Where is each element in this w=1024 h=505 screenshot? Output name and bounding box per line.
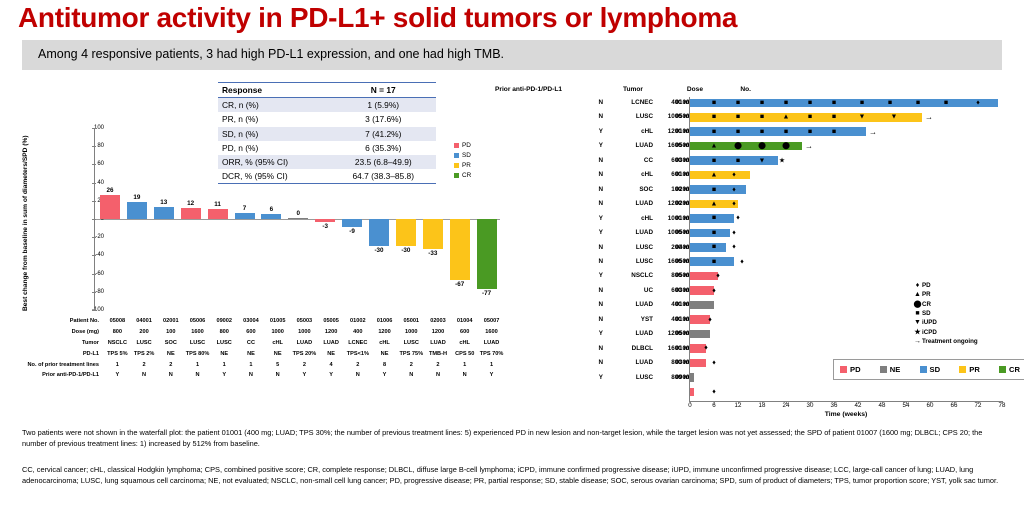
swimmer-cell-prior: N xyxy=(543,186,603,193)
swimmer-bar xyxy=(690,373,694,382)
waterfall-bar xyxy=(100,195,120,219)
swimmer-symbol: ■ xyxy=(712,258,716,265)
grid-cell: LUSC xyxy=(398,338,425,349)
waterfall-bar-value: 12 xyxy=(178,200,204,207)
swimmer-symbol: ★ xyxy=(779,157,785,164)
grid-cell: 100 xyxy=(157,327,184,338)
legend-item-cr: CR xyxy=(454,172,471,179)
color-swatch-ne xyxy=(880,366,887,373)
grid-cell: SOC xyxy=(157,338,184,349)
swimmer-tick-mark xyxy=(978,401,979,404)
table-header-row: Response N = 17 xyxy=(218,83,436,98)
swimmer-symbol: ■ xyxy=(916,99,920,106)
grid-cell: 200 xyxy=(131,327,158,338)
swimmer-tick-mark xyxy=(762,401,763,404)
grid-cell: Y xyxy=(211,370,238,381)
grid-cell: TPS 80% xyxy=(184,348,211,359)
grid-cell: TPS 20% xyxy=(291,348,318,359)
grid-cell: cHL xyxy=(264,338,291,349)
waterfall-bar-value: 0 xyxy=(285,210,311,217)
swimmer-bar xyxy=(690,286,714,295)
waterfall-bar-value: -30 xyxy=(366,247,392,254)
swimmer-tick-mark xyxy=(690,401,691,404)
swimmer-cell-tumor: cHL xyxy=(605,215,653,222)
waterfall-bar-value: 11 xyxy=(205,201,231,208)
grid-cell: 03004 xyxy=(238,316,265,327)
grid-row-label: Dose (mg) xyxy=(0,327,104,338)
grid-row-label: PD-L1 xyxy=(0,348,104,359)
waterfall-bar xyxy=(288,218,308,219)
swimmer-symbol: ■ xyxy=(808,114,812,121)
symbol-glyph: ▲ xyxy=(913,291,922,298)
grid-cell: 05003 xyxy=(291,316,318,327)
grid-cell: TMB-H xyxy=(425,348,452,359)
grid-cell: 2 xyxy=(344,359,371,370)
swimmer-cell-prior: N xyxy=(543,99,603,106)
grid-cell: 09002 xyxy=(211,316,238,327)
waterfall-bar xyxy=(342,219,362,227)
grid-cell: TPS 2% xyxy=(131,348,158,359)
legend-swatch-cr xyxy=(454,173,459,178)
color-legend-label: SD xyxy=(930,365,941,374)
swimmer-header-tumor: Tumor xyxy=(585,86,643,93)
swimmer-cell-prior: N xyxy=(543,200,603,207)
swimmer-cell-tumor: LUSC xyxy=(605,244,653,251)
grid-cell: 05001 xyxy=(398,316,425,327)
swimmer-bar xyxy=(690,315,710,324)
swimmer-symbol: ■ xyxy=(860,99,864,106)
swimmer-symbol: ■ xyxy=(736,114,740,121)
grid-cell: NE xyxy=(264,348,291,359)
grid-cell: N xyxy=(264,370,291,381)
grid-cell: Y xyxy=(104,370,131,381)
swimmer-symbol: ■ xyxy=(832,114,836,121)
swimmer-tick-mark xyxy=(834,401,835,404)
swimmer-symbol: ▼ xyxy=(891,114,898,121)
swimmer-cell-tumor: UC xyxy=(605,287,653,294)
swimmer-bars-area: ■■■■■■■■■■♦■■■▲■■▼▼→■■■■■■→▲⬤⬤⬤→■■▼★▲♦■♦… xyxy=(689,97,1002,402)
color-legend-sd: SD xyxy=(920,365,941,374)
waterfall-bar xyxy=(315,219,335,222)
swimmer-cell-tumor: cHL xyxy=(605,171,653,178)
symbol-legend-pr: ▲PR xyxy=(913,291,978,298)
swimmer-cell-tumor: YST xyxy=(605,316,653,323)
swimmer-symbol: ♦ xyxy=(712,287,716,294)
symbol-glyph: → xyxy=(913,338,922,345)
grid-cell: N xyxy=(398,370,425,381)
grid-row-label: No. of prior treatment lines xyxy=(0,359,104,370)
swimmer-symbol: ▲ xyxy=(783,114,790,121)
waterfall-bar xyxy=(127,202,147,219)
waterfall-grid-row: Patient No.05008040010200105006090020300… xyxy=(0,316,505,327)
color-legend-pd: PD xyxy=(840,365,861,374)
color-legend-label: CR xyxy=(1009,365,1020,374)
grid-cell: 05008 xyxy=(104,316,131,327)
response-value: 3 (17.6%) xyxy=(331,112,437,126)
swimmer-cell-prior: Y xyxy=(543,330,603,337)
swimmer-cell-tumor: LUSC xyxy=(605,258,653,265)
swimmer-symbol: ■ xyxy=(712,99,716,106)
grid-cell: 400 xyxy=(344,327,371,338)
symbol-glyph: ♦ xyxy=(913,282,922,289)
color-swatch-sd xyxy=(920,366,927,373)
grid-cell: LUAD xyxy=(291,338,318,349)
swimmer-cell-prior: Y xyxy=(543,229,603,236)
grid-cell: LUSC xyxy=(184,338,211,349)
symbol-legend-icpd: ★iCPD xyxy=(913,328,978,336)
grid-cell: 02003 xyxy=(425,316,452,327)
swimmer-symbol: ■ xyxy=(712,128,716,135)
swimmer-cell-prior: N xyxy=(543,258,603,265)
swimmer-cell-tumor: LUAD xyxy=(605,301,653,308)
swimmer-cell-tumor: LUSC xyxy=(605,374,653,381)
swimmer-symbol: ■ xyxy=(736,157,740,164)
grid-cell: 1600 xyxy=(184,327,211,338)
swimmer-symbol: ■ xyxy=(712,244,716,251)
grid-cell: TPS 75% xyxy=(398,348,425,359)
swimmer-symbol: ■ xyxy=(832,99,836,106)
waterfall-bar-value: 6 xyxy=(258,206,284,213)
waterfall-bar xyxy=(450,219,470,280)
symbol-glyph: ■ xyxy=(913,310,922,317)
swimmer-symbol: ♦ xyxy=(732,229,736,236)
waterfall-bar xyxy=(261,214,281,219)
legend-swatch-sd xyxy=(454,153,459,158)
swimmer-cell-tumor: LUAD xyxy=(605,142,653,149)
swimmer-bar xyxy=(690,243,726,252)
grid-row-label: Patient No. xyxy=(0,316,104,327)
swimmer-tick-mark xyxy=(1002,401,1003,404)
swimmer-cell-tumor: LUSC xyxy=(605,113,653,120)
swimmer-cell-prior: Y xyxy=(543,272,603,279)
grid-cell: 1 xyxy=(104,359,131,370)
swimmer-cell-prior: N xyxy=(543,301,603,308)
swimmer-symbol: ♦ xyxy=(740,258,744,265)
grid-cell: CPS 50 xyxy=(451,348,478,359)
swimmer-cell-tumor: CC xyxy=(605,157,653,164)
symbol-glyph: ▼ xyxy=(913,319,922,326)
waterfall-bar-value: 13 xyxy=(151,199,177,206)
swimmer-symbol: ▲ xyxy=(711,172,718,179)
symbol-label: iUPD xyxy=(922,319,937,326)
swimmer-cell-tumor: DLBCL xyxy=(605,345,653,352)
swimmer-symbol: ■ xyxy=(760,114,764,121)
subtitle-text: Among 4 responsive patients, 3 had high … xyxy=(38,47,504,61)
swimmer-tick-mark xyxy=(714,401,715,404)
grid-cell: 1200 xyxy=(371,327,398,338)
swimmer-bar xyxy=(690,127,866,136)
grid-cell: 1000 xyxy=(291,327,318,338)
symbol-legend-treatment-ongoing: →Treatment ongoing xyxy=(913,338,978,345)
swimmer-tick-mark xyxy=(858,401,859,404)
swimmer-bar xyxy=(690,359,706,368)
column-header-response: Response xyxy=(218,83,331,98)
footnote-waterfall: Two patients were not shown in the water… xyxy=(22,427,1007,449)
swimmer-x-axis-label: Time (weeks) xyxy=(690,411,1002,418)
table-row: CR, n (%)1 (5.9%) xyxy=(218,98,436,113)
grid-cell: 8 xyxy=(371,359,398,370)
grid-cell: CC xyxy=(238,338,265,349)
grid-cell: 01006 xyxy=(371,316,398,327)
grid-cell: cHL xyxy=(451,338,478,349)
swimmer-cell-prior: N xyxy=(543,287,603,294)
table-row: PR, n (%)3 (17.6%) xyxy=(218,112,436,126)
grid-cell: 1000 xyxy=(264,327,291,338)
grid-cell: LUSC xyxy=(211,338,238,349)
color-legend-cr: CR xyxy=(999,365,1020,374)
waterfall-tick-mark xyxy=(92,310,96,311)
swimmer-symbol: ■ xyxy=(712,114,716,121)
swimmer-symbol: ■ xyxy=(808,99,812,106)
swimmer-cell-tumor: SOC xyxy=(605,186,653,193)
color-legend-label: PD xyxy=(850,365,861,374)
swimmer-cell-prior: N xyxy=(543,359,603,366)
waterfall-bar xyxy=(396,219,416,246)
swimmer-tick-mark xyxy=(906,401,907,404)
grid-cell: 2 xyxy=(425,359,452,370)
swimmer-tick-mark xyxy=(882,401,883,404)
swimmer-tick-mark xyxy=(954,401,955,404)
swimmer-bar xyxy=(690,388,694,397)
symbol-legend-iupd: ▼iUPD xyxy=(913,319,978,326)
swimmer-tick-mark xyxy=(810,401,811,404)
grid-cell: NSCLC xyxy=(104,338,131,349)
grid-cell: Y xyxy=(291,370,318,381)
grid-cell: LUAD xyxy=(318,338,345,349)
swimmer-cell-prior: N xyxy=(543,244,603,251)
grid-cell: NE xyxy=(211,348,238,359)
swimmer-bar xyxy=(690,330,710,339)
grid-cell: cHL xyxy=(371,338,398,349)
swimmer-cell-prior: N xyxy=(543,316,603,323)
grid-cell: 02001 xyxy=(157,316,184,327)
grid-cell: N xyxy=(238,370,265,381)
grid-row-label: Prior anti-PD-1/PD-L1 xyxy=(0,370,104,381)
swimmer-symbol: ♦ xyxy=(712,359,716,366)
swimmer-tick-mark xyxy=(738,401,739,404)
swimmer-tick-mark xyxy=(930,401,931,404)
grid-cell: 2 xyxy=(131,359,158,370)
waterfall-bar xyxy=(154,207,174,219)
grid-cell: N xyxy=(157,370,184,381)
symbol-glyph: ★ xyxy=(913,328,922,336)
waterfall-bar xyxy=(208,209,228,219)
waterfall-data-grid: Patient No.05008040010200105006090020300… xyxy=(0,316,505,381)
grid-cell: LUSC xyxy=(131,338,158,349)
response-label: PR, n (%) xyxy=(218,112,331,126)
symbol-label: PD xyxy=(922,282,931,289)
grid-cell: 1000 xyxy=(398,327,425,338)
swimmer-symbol: ⬤ xyxy=(734,143,742,150)
grid-cell: 2 xyxy=(157,359,184,370)
grid-cell: 01004 xyxy=(451,316,478,327)
waterfall-bar-value: -9 xyxy=(339,228,365,235)
grid-cell: 2 xyxy=(291,359,318,370)
swimmer-ongoing-arrow: → xyxy=(805,143,813,150)
legend-item-pr: PR xyxy=(454,162,471,169)
grid-cell: NE xyxy=(238,348,265,359)
waterfall-y-axis-label: Best change from baseline in sum of diam… xyxy=(22,128,36,318)
waterfall-grid-row: Prior anti-PD-1/PD-L1YNNNYNNYYNYNNNY xyxy=(0,370,505,381)
color-legend-ne: NE xyxy=(880,365,901,374)
swimmer-symbol: ♦ xyxy=(732,172,736,179)
grid-cell: NE xyxy=(157,348,184,359)
waterfall-bar-value: 19 xyxy=(124,194,150,201)
response-value: 1 (5.9%) xyxy=(331,98,437,113)
symbol-legend-cr: ⬤CR xyxy=(913,300,978,308)
grid-cell: 1200 xyxy=(318,327,345,338)
grid-cell: 600 xyxy=(238,327,265,338)
swimmer-cell-prior: N xyxy=(543,113,603,120)
grid-cell: 2 xyxy=(398,359,425,370)
legend-swatch-pr xyxy=(454,163,459,168)
waterfall-grid-row: No. of prior treatment lines122111524282… xyxy=(0,359,505,370)
swimmer-header-no: No. xyxy=(693,86,751,93)
symbol-legend-sd: ■SD xyxy=(913,310,978,317)
waterfall-bars: 2619131211760-3-9-30-30-33-67-77 xyxy=(96,128,500,310)
waterfall-bar-value: -3 xyxy=(312,223,338,230)
legend-label: PR xyxy=(462,162,471,169)
swimmer-symbol: ■ xyxy=(944,99,948,106)
swimmer-symbol: ▼ xyxy=(759,157,766,164)
waterfall-bar xyxy=(235,213,255,219)
swimmer-bar xyxy=(690,171,750,180)
waterfall-bar xyxy=(423,219,443,249)
swimmer-symbol: ■ xyxy=(832,128,836,135)
swimmer-cell-tumor: LUAD xyxy=(605,200,653,207)
color-legend-pr: PR xyxy=(959,365,980,374)
subtitle-banner: Among 4 responsive patients, 3 had high … xyxy=(22,40,1002,70)
grid-cell: Y xyxy=(371,370,398,381)
waterfall-bar-value: -67 xyxy=(447,281,473,288)
swimmer-symbol: ■ xyxy=(784,99,788,106)
legend-swatch-pd xyxy=(454,143,459,148)
swimmer-color-legend: PDNESDPRCR xyxy=(840,365,1020,374)
swimmer-cell-prior: Y xyxy=(543,215,603,222)
waterfall-bar-value: -30 xyxy=(393,247,419,254)
swimmer-cell-prior: Y xyxy=(543,374,603,381)
swimmer-symbol: ♦ xyxy=(712,388,716,395)
swimmer-symbol: ■ xyxy=(808,128,812,135)
column-header-n: N = 17 xyxy=(331,83,437,98)
swimmer-bar xyxy=(690,185,746,194)
swimmer-symbol: ■ xyxy=(736,128,740,135)
waterfall-grid-row: TumorNSCLCLUSCSOCLUSCLUSCCCcHLLUADLUADLC… xyxy=(0,338,505,349)
symbol-label: iCPD xyxy=(922,329,937,336)
waterfall-legend: PDSDPRCR xyxy=(454,142,471,182)
grid-cell: 04001 xyxy=(131,316,158,327)
swimmer-tick-mark xyxy=(786,401,787,404)
symbol-glyph: ⬤ xyxy=(913,300,922,308)
swimmer-symbol: ▼ xyxy=(859,114,866,121)
swimmer-symbol: ▲ xyxy=(711,200,718,207)
grid-cell: 01005 xyxy=(264,316,291,327)
symbol-legend-pd: ♦PD xyxy=(913,282,978,289)
symbol-label: Treatment ongoing xyxy=(922,338,978,345)
swimmer-symbol: ■ xyxy=(760,99,764,106)
swimmer-ongoing-arrow: → xyxy=(925,114,933,121)
symbol-label: PR xyxy=(922,291,931,298)
swimmer-symbol: ♦ xyxy=(976,99,980,106)
symbol-label: SD xyxy=(922,310,931,317)
swimmer-symbol: ♦ xyxy=(732,186,736,193)
swimmer-symbol: ■ xyxy=(712,215,716,222)
grid-cell: 800 xyxy=(104,327,131,338)
swimmer-cell-prior: N xyxy=(543,345,603,352)
legend-label: CR xyxy=(462,172,471,179)
swimmer-symbol: ■ xyxy=(784,128,788,135)
waterfall-bar-value: 26 xyxy=(97,187,123,194)
color-swatch-pd xyxy=(840,366,847,373)
grid-cell: 1200 xyxy=(425,327,452,338)
swimmer-cell-prior: N xyxy=(543,157,603,164)
swimmer-cell-prior: Y xyxy=(543,142,603,149)
swimmer-bar xyxy=(690,229,730,238)
waterfall-grid-row: Dose (mg)8002001001600800600100010001200… xyxy=(0,327,505,338)
swimmer-symbol: ⬤ xyxy=(758,143,766,150)
grid-cell: N xyxy=(344,370,371,381)
grid-cell: NE xyxy=(371,348,398,359)
swimmer-symbol-legend: ♦PD▲PR⬤CR■SD▼iUPD★iCPD→Treatment ongoing xyxy=(913,282,978,347)
swimmer-cell-tumor: cHL xyxy=(605,128,653,135)
grid-cell: NE xyxy=(318,348,345,359)
grid-cell: 4 xyxy=(318,359,345,370)
page-title: Antitumor activity in PD-L1+ solid tumor… xyxy=(18,2,1008,34)
symbol-label: CR xyxy=(922,301,931,308)
waterfall-grid-row: PD-L1TPS 5%TPS 2%NETPS 80%NENENETPS 20%N… xyxy=(0,348,505,359)
swimmer-symbol: ■ xyxy=(736,99,740,106)
grid-cell: TPS<1% xyxy=(344,348,371,359)
grid-cell: 5 xyxy=(264,359,291,370)
legend-label: PD xyxy=(462,142,471,149)
grid-cell: 1 xyxy=(211,359,238,370)
swimmer-cell-tumor: LUAD xyxy=(605,359,653,366)
swimmer-symbol: ■ xyxy=(888,99,892,106)
grid-cell: 600 xyxy=(451,327,478,338)
legend-item-pd: PD xyxy=(454,142,471,149)
grid-cell: LUAD xyxy=(425,338,452,349)
grid-cell: Y xyxy=(318,370,345,381)
grid-row-label: Tumor xyxy=(0,338,104,349)
swimmer-symbol: ■ xyxy=(712,229,716,236)
color-swatch-pr xyxy=(959,366,966,373)
swimmer-cell-prior: Y xyxy=(543,128,603,135)
swimmer-cell-tumor: LUAD xyxy=(605,229,653,236)
swimmer-symbol: ⬤ xyxy=(782,143,790,150)
swimmer-cell-tumor: NSCLC xyxy=(605,272,653,279)
grid-cell: 800 xyxy=(211,327,238,338)
swimmer-ongoing-arrow: → xyxy=(869,128,877,135)
swimmer-symbol: ♦ xyxy=(732,200,736,207)
swimmer-bar xyxy=(690,272,718,281)
swimmer-cell-prior: N xyxy=(543,171,603,178)
swimmer-cell-tumor: LUAD xyxy=(605,330,653,337)
grid-cell: 01002 xyxy=(344,316,371,327)
swimmer-symbol: ■ xyxy=(712,157,716,164)
grid-cell: N xyxy=(131,370,158,381)
swimmer-symbol: ■ xyxy=(760,128,764,135)
grid-cell: N xyxy=(184,370,211,381)
color-swatch-cr xyxy=(999,366,1006,373)
grid-cell: N xyxy=(425,370,452,381)
legend-item-sd: SD xyxy=(454,152,471,159)
swimmer-bar xyxy=(690,301,714,310)
swimmer-plot: Prior anti-PD-1/PD-L1TumorDoseNo. NLCNEC… xyxy=(495,86,1020,406)
waterfall-bar xyxy=(477,219,497,289)
waterfall-bar xyxy=(369,219,389,246)
swimmer-cell-tumor: LCNEC xyxy=(605,99,653,106)
color-legend-label: NE xyxy=(890,365,901,374)
